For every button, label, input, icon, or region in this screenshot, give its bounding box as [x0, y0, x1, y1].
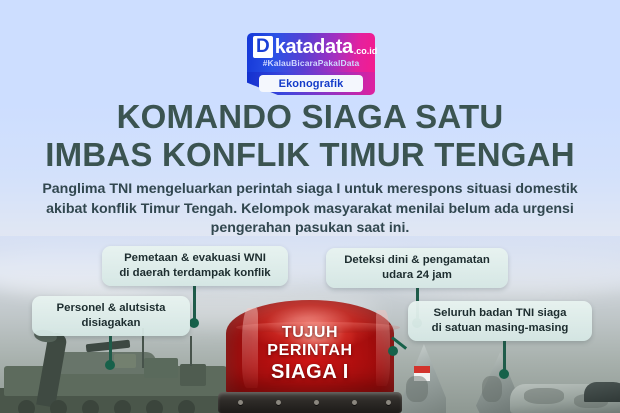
callout-pemetaan-line2: di daerah terdampak konflik — [119, 267, 270, 279]
infographic-canvas: TUJUH PERINTAH SIAGA I Personel & alutsi… — [0, 0, 620, 413]
callout-personel-text: Personel & alutsista disiagakan — [57, 301, 166, 330]
connector-line-personel — [109, 336, 112, 362]
callout-seluruh-line2: di satuan masing-masing — [432, 322, 569, 334]
siren-dome — [226, 300, 394, 396]
connector-dot-personel — [105, 360, 115, 370]
logo-badge-label: Ekonografik — [259, 75, 363, 92]
headline-line-2: IMBAS KONFLIK TIMUR TENGAH — [0, 138, 620, 172]
callout-deteksi-text: Deteksi dini & pengamatan udara 24 jam — [344, 253, 490, 282]
callout-deteksi-line2: udara 24 jam — [382, 269, 452, 281]
siren-base — [218, 392, 402, 413]
logo-tld: .co.id — [354, 46, 378, 58]
connector-dot-pemetaan — [189, 318, 199, 328]
logo-d-mark: D — [253, 36, 273, 58]
connector-line-seluruh — [503, 341, 506, 371]
headline-line-1: KOMANDO SIAGA SATU — [0, 100, 620, 134]
logo-wordmark: D katadata .co.id — [253, 36, 373, 58]
horizon-haze — [0, 236, 620, 296]
connector-dot-seluruh — [499, 369, 509, 379]
callout-seluruh-text: Seluruh badan TNI siaga di satuan masing… — [432, 306, 569, 335]
callout-seluruh[interactable]: Seluruh badan TNI siaga di satuan masing… — [408, 301, 592, 341]
callout-seluruh-line1: Seluruh badan TNI siaga — [434, 307, 567, 319]
connector-line-pemetaan — [193, 286, 196, 320]
military-tank-image — [0, 330, 234, 413]
callout-personel[interactable]: Personel & alutsista disiagakan — [32, 296, 190, 336]
callout-deteksi-line1: Deteksi dini & pengamatan — [344, 254, 490, 266]
logo-hashtag: #KalauBicaraPakalData — [247, 58, 375, 68]
callout-personel-line2: disiagakan — [82, 317, 141, 329]
callout-pemetaan-line1: Pemetaan & evakuasi WNI — [124, 252, 266, 264]
logo-name: katadata — [275, 37, 353, 57]
katadata-logo[interactable]: D katadata .co.id #KalauBicaraPakalData … — [247, 33, 375, 95]
callout-personel-line1: Personel & alutsista — [57, 302, 166, 314]
connector-dot-left-jet — [388, 346, 398, 356]
emergency-siren: TUJUH PERINTAH SIAGA I — [218, 300, 402, 413]
callout-pemetaan[interactable]: Pemetaan & evakuasi WNI di daerah terdam… — [102, 246, 288, 286]
subtitle-text: Panglima TNI mengeluarkan perintah siaga… — [40, 180, 580, 239]
callout-deteksi[interactable]: Deteksi dini & pengamatan udara 24 jam — [326, 248, 508, 288]
callout-pemetaan-text: Pemetaan & evakuasi WNI di daerah terdam… — [119, 251, 270, 280]
